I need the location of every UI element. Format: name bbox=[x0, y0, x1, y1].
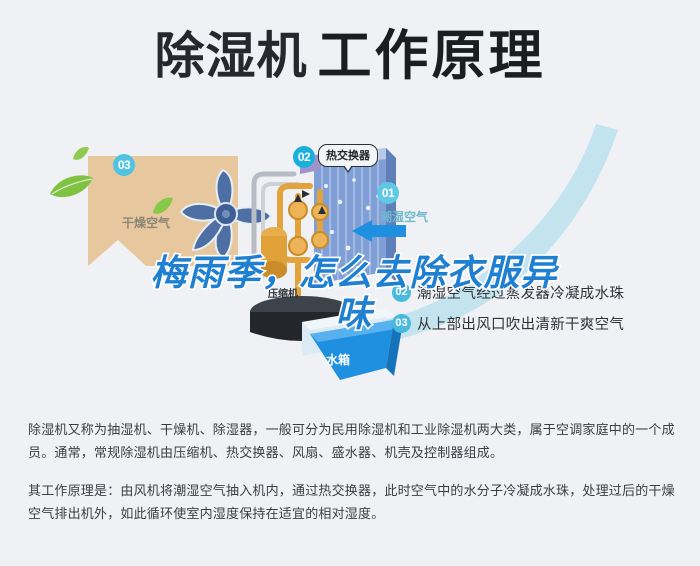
leaf-icon bbox=[48, 174, 94, 200]
body-paragraph-1: 除湿机又称为抽湿机、干燥机、除湿器，一般可分为民用除湿机和工业除湿机两大类，属于… bbox=[28, 418, 676, 464]
label-water-tank: 水箱 bbox=[326, 351, 350, 368]
page-title: 除湿机工作原理 bbox=[0, 26, 700, 86]
label-humid-air: 潮湿空气 bbox=[380, 208, 428, 225]
badge-03: 03 bbox=[113, 154, 135, 176]
legend-item-02: 02 潮湿空气经过蒸发器冷凝成水珠 bbox=[392, 277, 692, 308]
legend-list: 01 由风机将潮湿空气抽入机内 02 潮湿空气经过蒸发器冷凝成水珠 03 从上部… bbox=[392, 246, 692, 339]
legend-item-03: 03 从上部出风口吹出清新干爽空气 bbox=[392, 308, 692, 339]
body-paragraph-2: 其工作原理是：由风机将潮湿空气抽入机内，通过热交换器，此时空气中的水分子冷凝成水… bbox=[28, 479, 676, 525]
page-title-part-one: 除湿机 bbox=[155, 28, 308, 84]
infographic-page: 除湿机工作原理 bbox=[0, 0, 700, 566]
leaf-icon bbox=[152, 196, 174, 216]
article-body: 除湿机又称为抽湿机、干燥机、除湿器，一般可分为民用除湿机和工业除湿机两大类，属于… bbox=[28, 418, 676, 525]
label-dry-air: 干燥空气 bbox=[122, 214, 170, 231]
legend-text-03: 从上部出风口吹出清新干爽空气 bbox=[417, 313, 624, 334]
leaf-icon bbox=[72, 146, 90, 162]
label-compressor: 压缩机 bbox=[268, 285, 298, 300]
legend-badge-02: 02 bbox=[392, 283, 411, 302]
legend-text-02: 潮湿空气经过蒸发器冷凝成水珠 bbox=[417, 282, 624, 303]
legend-badge-01: 01 bbox=[392, 252, 411, 271]
callout-heat-exchanger: 热交换器 bbox=[318, 144, 378, 167]
legend-text-01: 由风机将潮湿空气抽入机内 bbox=[417, 251, 595, 272]
page-title-part-two: 工作原理 bbox=[318, 26, 546, 86]
badge-01: 01 bbox=[377, 182, 399, 204]
legend-badge-03: 03 bbox=[392, 314, 411, 333]
badge-02: 02 bbox=[293, 146, 315, 168]
